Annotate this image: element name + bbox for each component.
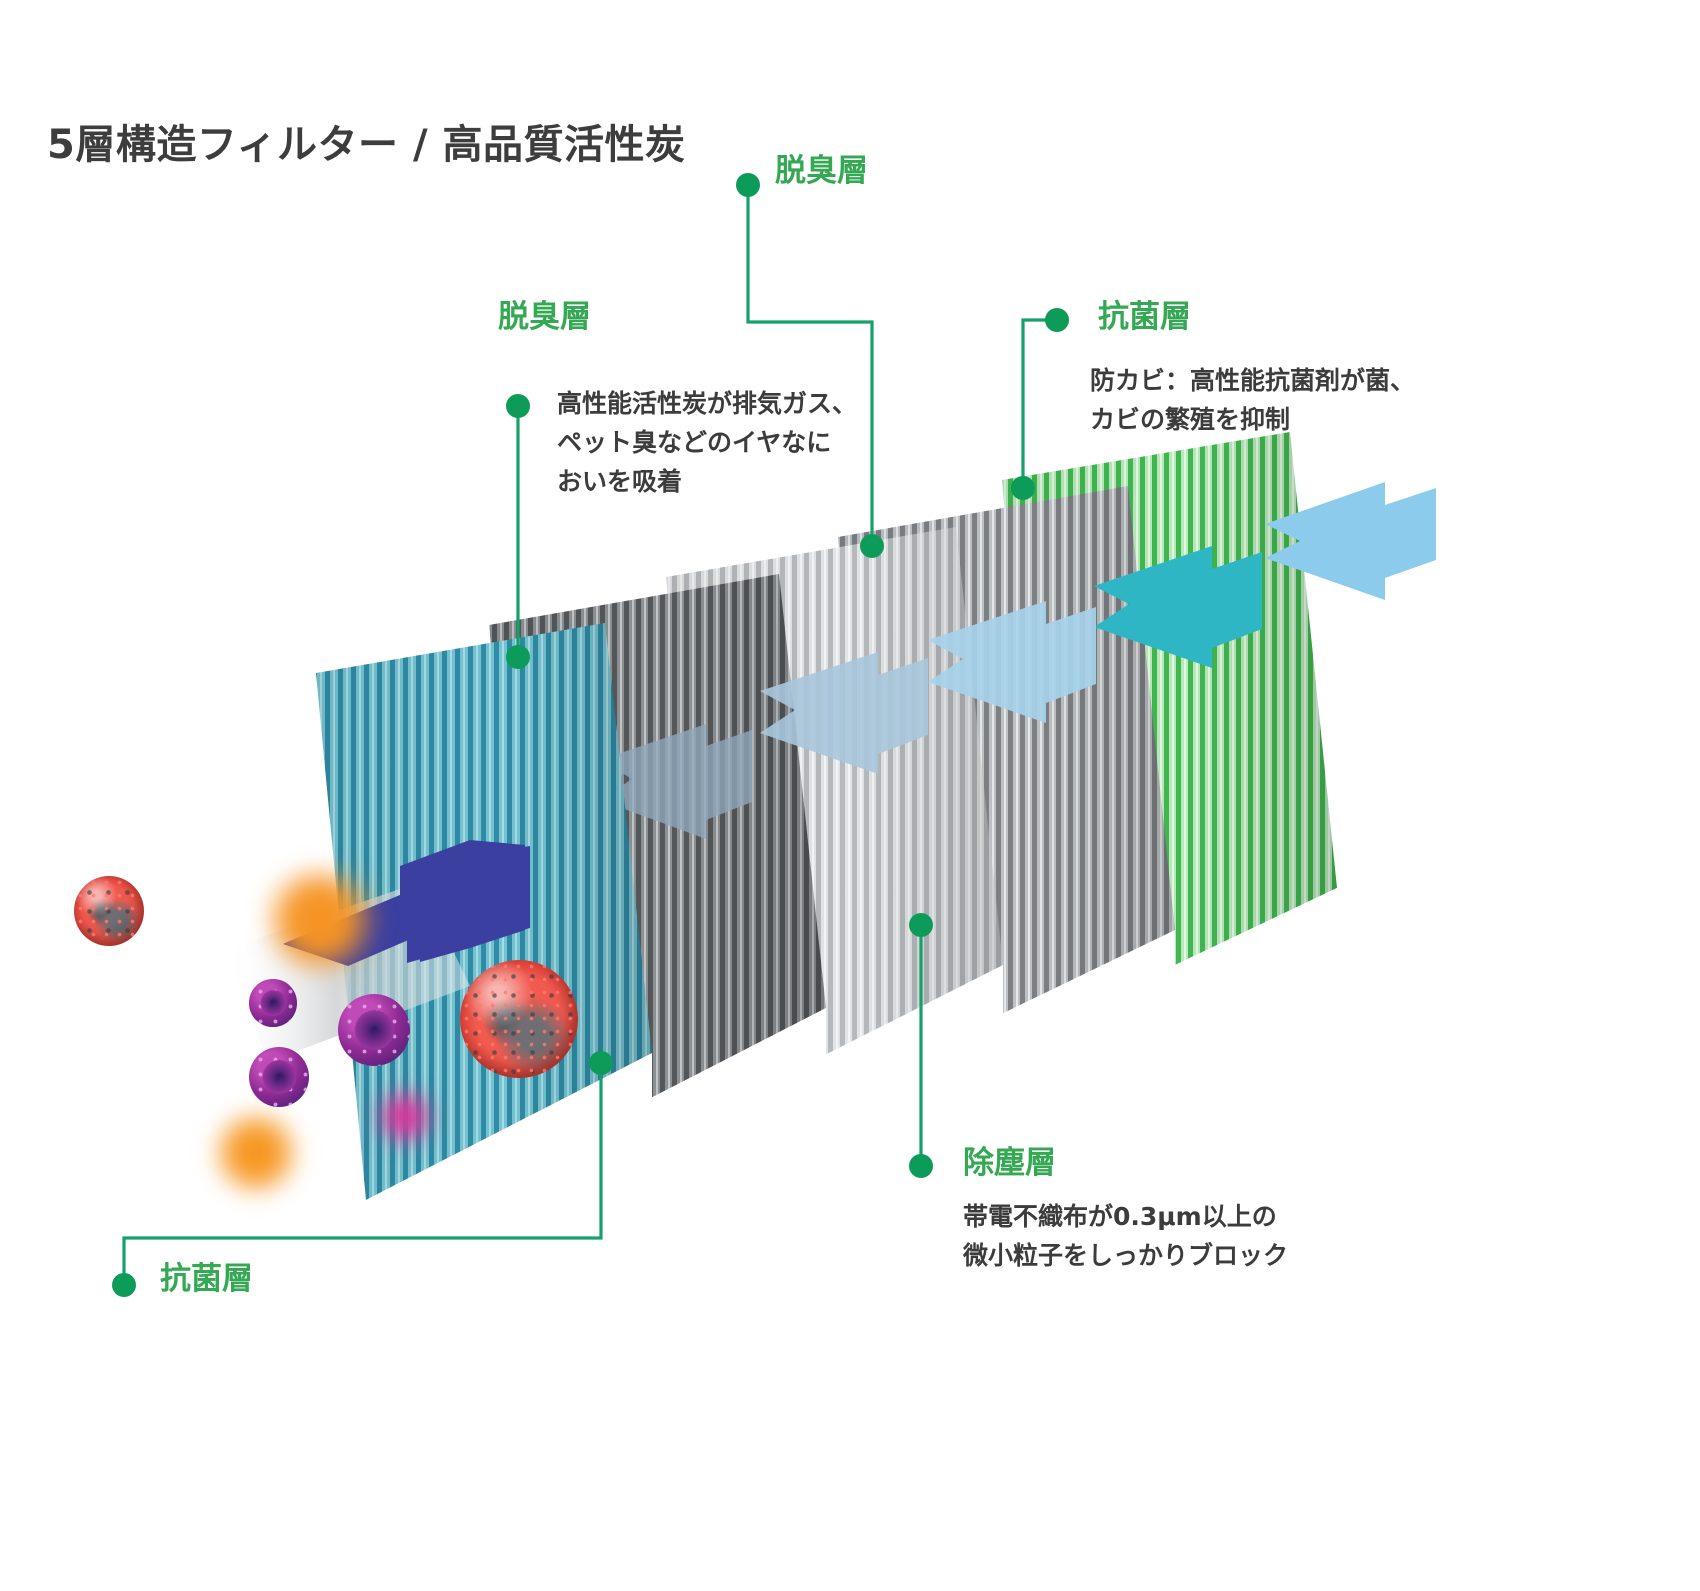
- callout-body-line: おいを吸着: [557, 463, 857, 502]
- virus-particle-purple-1: [236, 966, 310, 1040]
- virus-particle-purple-3: [232, 1030, 326, 1124]
- callout-heading-deodorizing-top: 脱臭層: [775, 154, 868, 190]
- virus-particle-purple-2: [318, 974, 430, 1086]
- callout-body-line: ペット臭などのイヤなに: [557, 424, 857, 463]
- pollen-pink-blob: [376, 1088, 434, 1146]
- callout-antibacterial-right: 抗菌層: [1098, 300, 1191, 336]
- filter-infographic: 5層構造フィルター / 高品質活性炭 脱臭層 脱臭層 高性能活性炭が排気ガス、 …: [0, 0, 1700, 1591]
- callout-heading-dust-removal: 除塵層: [963, 1146, 1056, 1182]
- callout-deodorizing-left: 脱臭層: [498, 300, 591, 336]
- virus-particle-red-2: [460, 960, 578, 1078]
- callout-heading-antibacterial-right: 抗菌層: [1098, 300, 1191, 336]
- callout-heading-deodorizing-left: 脱臭層: [498, 300, 591, 336]
- callout-body-antibacterial-right: 防カビ：高性能抗菌剤が菌、 カビの繁殖を抑制: [1090, 362, 1415, 440]
- callout-body-line: 防カビ：高性能抗菌剤が菌、: [1090, 362, 1415, 401]
- pollen-orange-blob-1: [256, 866, 384, 974]
- callout-body-deodorizing-left: 高性能活性炭が排気ガス、 ペット臭などのイヤなに おいを吸着: [557, 385, 857, 501]
- callout-body-line: 帯電不織布が0.3μm以上の: [963, 1198, 1288, 1237]
- virus-particle-red-1: [74, 876, 144, 946]
- callout-heading-antibacterial-bottom: 抗菌層: [160, 1262, 253, 1298]
- callout-antibacterial-bottom: 抗菌層: [160, 1262, 253, 1298]
- callout-body-dust-removal: 帯電不織布が0.3μm以上の 微小粒子をしっかりブロック: [963, 1198, 1288, 1276]
- callout-body-line: 微小粒子をしっかりブロック: [963, 1237, 1288, 1276]
- callout-body-line: カビの繁殖を抑制: [1090, 401, 1415, 440]
- callout-dust-removal: 除塵層: [963, 1146, 1056, 1182]
- page-title: 5層構造フィルター / 高品質活性炭: [47, 112, 686, 170]
- callout-body-line: 高性能活性炭が排気ガス、: [557, 385, 857, 424]
- filter-layer-stack: [0, 0, 1700, 1591]
- callout-deodorizing-top: 脱臭層: [775, 154, 868, 190]
